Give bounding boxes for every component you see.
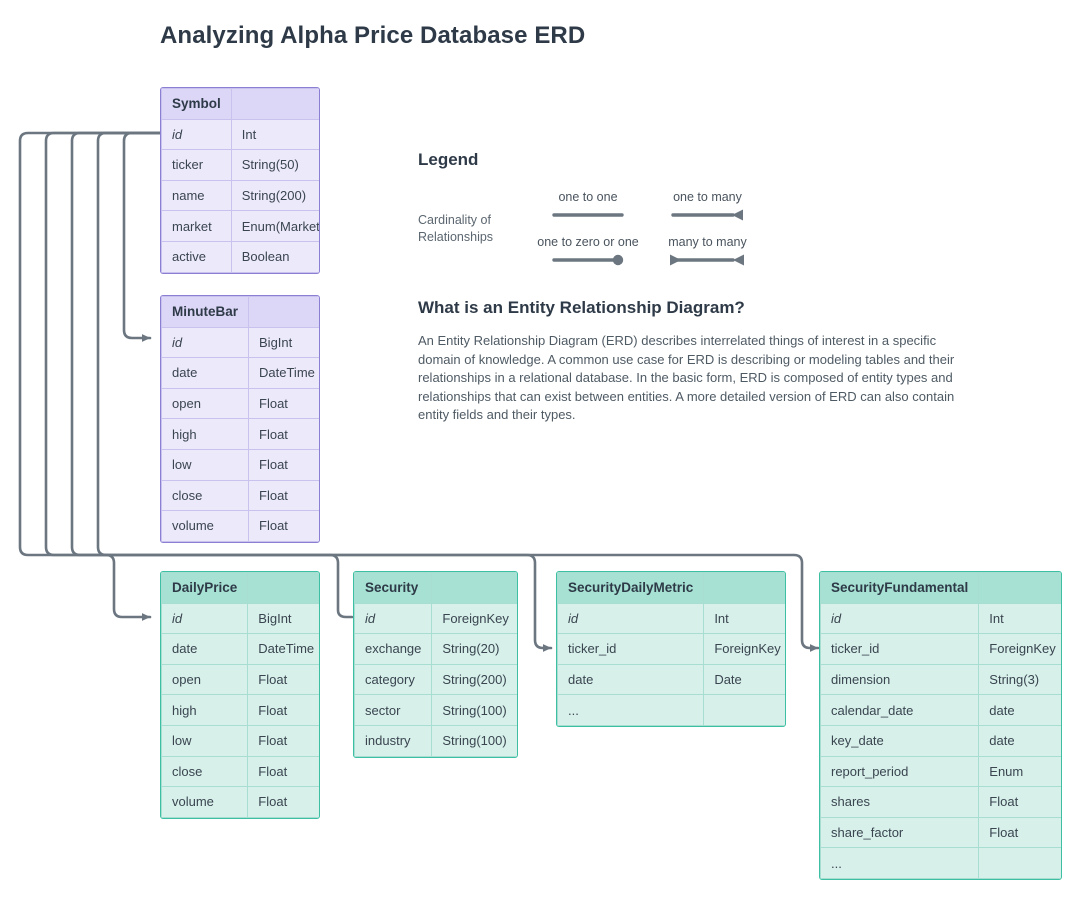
table-row: ...: [558, 695, 787, 726]
legend-item-one-to-zero-or-one: one to zero or one: [533, 235, 643, 272]
table-row: industryString(100): [355, 725, 519, 756]
field-name: volume: [162, 511, 249, 542]
field-type: Float: [248, 787, 320, 818]
table-row: openFloat: [162, 388, 321, 419]
field-name: close: [162, 480, 249, 511]
field-name: date: [162, 358, 249, 389]
table-row: highFloat: [162, 419, 321, 450]
table-row: lowFloat: [162, 725, 321, 756]
legend-label: one to many: [655, 190, 760, 204]
field-type: ForeignKey: [704, 634, 786, 665]
field-name: shares: [821, 787, 979, 818]
table-row: nameString(200): [162, 180, 321, 211]
entity-header-row: Symbol: [162, 89, 321, 120]
table-row: tickerString(50): [162, 150, 321, 181]
table-row: share_factorFloat: [821, 817, 1063, 848]
field-name: high: [162, 419, 249, 450]
field-name: id: [162, 603, 248, 634]
table-row: dateDate: [558, 664, 787, 695]
field-type: date: [979, 725, 1062, 756]
table-row: closeFloat: [162, 480, 321, 511]
field-type: Date: [704, 664, 786, 695]
connector-symbol-dailyprice: [98, 133, 160, 617]
field-type: String(200): [231, 180, 320, 211]
entity-header-row: SecurityDailyMetric: [558, 573, 787, 604]
field-name: name: [162, 180, 232, 211]
description-title: What is an Entity Relationship Diagram?: [418, 298, 745, 318]
field-name: industry: [355, 725, 432, 756]
field-name: calendar_date: [821, 695, 979, 726]
field-type: Enum(Market): [231, 211, 320, 242]
field-type: BigInt: [249, 327, 320, 358]
entity-header-spacer: [248, 573, 320, 604]
table-row: categoryString(200): [355, 664, 519, 695]
legend-label: many to many: [655, 235, 760, 249]
field-type: Boolean: [231, 241, 320, 272]
legend-line-many-to-many: [655, 253, 760, 267]
entity-header-row: DailyPrice: [162, 573, 321, 604]
field-name: id: [355, 603, 432, 634]
field-name: exchange: [355, 634, 432, 665]
entity-name: Symbol: [162, 89, 232, 120]
field-type: String(20): [432, 634, 518, 665]
field-name: share_factor: [821, 817, 979, 848]
field-type: Float: [249, 511, 320, 542]
field-type: Float: [979, 817, 1062, 848]
entity-header-spacer: [432, 573, 518, 604]
field-type: Float: [248, 695, 320, 726]
field-name: low: [162, 449, 249, 480]
field-type: Int: [704, 603, 786, 634]
table-row: idInt: [162, 119, 321, 150]
table-row: report_periodEnum: [821, 756, 1063, 787]
table-row: sectorString(100): [355, 695, 519, 726]
table-row: ticker_idForeignKey: [821, 634, 1063, 665]
table-row: idForeignKey: [355, 603, 519, 634]
field-name: close: [162, 756, 248, 787]
entity-name: SecurityDailyMetric: [558, 573, 704, 604]
table-row: sharesFloat: [821, 787, 1063, 818]
field-type: DateTime: [248, 634, 320, 665]
table-row: dateDateTime: [162, 634, 321, 665]
entity-name: Security: [355, 573, 432, 604]
field-name: open: [162, 388, 249, 419]
field-name: active: [162, 241, 232, 272]
table-row: ...: [821, 848, 1063, 879]
table-row: marketEnum(Market): [162, 211, 321, 242]
field-name: ticker: [162, 150, 232, 181]
erd-canvas: Analyzing Alpha Price Database ERD Symbo…: [0, 0, 1080, 897]
field-type: Float: [249, 419, 320, 450]
legend-label: one to one: [533, 190, 643, 204]
table-row: key_datedate: [821, 725, 1063, 756]
field-type: [704, 695, 786, 726]
description-body: An Entity Relationship Diagram (ERD) des…: [418, 332, 974, 425]
legend-item-one-to-many: one to many: [655, 190, 760, 226]
legend-line-one-to-zero-or-one: [533, 253, 643, 267]
entity-securitydailymetric[interactable]: SecurityDailyMetric idInt ticker_idForei…: [556, 571, 786, 727]
table-row: idInt: [821, 603, 1063, 634]
table-row: dateDateTime: [162, 358, 321, 389]
legend-item-many-to-many: many to many: [655, 235, 760, 272]
field-type: date: [979, 695, 1062, 726]
table-row: volumeFloat: [162, 511, 321, 542]
field-type: Int: [231, 119, 320, 150]
entity-header-spacer: [249, 297, 320, 328]
entity-header-row: SecurityFundamental: [821, 573, 1063, 604]
entity-symbol[interactable]: Symbol idInt tickerString(50) nameString…: [160, 87, 320, 274]
field-name: key_date: [821, 725, 979, 756]
field-name: date: [162, 634, 248, 665]
field-name: open: [162, 664, 248, 695]
entity-header-spacer: [979, 573, 1062, 604]
field-type: String(100): [432, 725, 518, 756]
field-type: Float: [249, 480, 320, 511]
field-type: Float: [249, 388, 320, 419]
field-name: id: [162, 119, 232, 150]
field-type: Enum: [979, 756, 1062, 787]
table-row: openFloat: [162, 664, 321, 695]
legend-title: Legend: [418, 150, 478, 170]
table-row: activeBoolean: [162, 241, 321, 272]
entity-header-spacer: [704, 573, 786, 604]
table-row: lowFloat: [162, 449, 321, 480]
field-name: market: [162, 211, 232, 242]
field-type: [979, 848, 1062, 879]
legend-line-one-to-one: [533, 209, 643, 221]
field-name: category: [355, 664, 432, 695]
field-type: ForeignKey: [979, 634, 1062, 665]
entity-header-spacer: [231, 89, 320, 120]
field-type: ForeignKey: [432, 603, 518, 634]
connector-symbol-minutebar: [124, 133, 160, 338]
field-type: Float: [249, 449, 320, 480]
entity-minutebar[interactable]: MinuteBar idBigInt dateDateTime openFloa…: [160, 295, 320, 543]
legend-line-one-to-many: [655, 209, 760, 221]
table-row: highFloat: [162, 695, 321, 726]
field-name: id: [821, 603, 979, 634]
entity-securityfundamental[interactable]: SecurityFundamental idInt ticker_idForei…: [819, 571, 1062, 880]
field-name: high: [162, 695, 248, 726]
entity-name: DailyPrice: [162, 573, 248, 604]
field-name: volume: [162, 787, 248, 818]
field-type: Int: [979, 603, 1062, 634]
table-row: idInt: [558, 603, 787, 634]
field-type: Float: [248, 725, 320, 756]
field-name: sector: [355, 695, 432, 726]
field-type: Float: [248, 756, 320, 787]
field-name: low: [162, 725, 248, 756]
entity-name: MinuteBar: [162, 297, 249, 328]
legend-item-one-to-one: one to one: [533, 190, 643, 226]
field-type: String(100): [432, 695, 518, 726]
field-name: report_period: [821, 756, 979, 787]
entity-name: SecurityFundamental: [821, 573, 979, 604]
field-name: id: [558, 603, 704, 634]
legend-caption: Cardinality of Relationships: [418, 212, 513, 246]
field-name: ...: [821, 848, 979, 879]
entity-header-row: MinuteBar: [162, 297, 321, 328]
field-type: String(200): [432, 664, 518, 695]
field-type: String(50): [231, 150, 320, 181]
table-row: calendar_datedate: [821, 695, 1063, 726]
entity-header-row: Security: [355, 573, 519, 604]
field-name: ...: [558, 695, 704, 726]
entity-dailyprice[interactable]: DailyPrice idBigInt dateDateTime openFlo…: [160, 571, 320, 819]
field-type: Float: [248, 664, 320, 695]
table-row: closeFloat: [162, 756, 321, 787]
table-row: exchangeString(20): [355, 634, 519, 665]
field-name: date: [558, 664, 704, 695]
field-type: BigInt: [248, 603, 320, 634]
field-name: ticker_id: [821, 634, 979, 665]
table-row: ticker_idForeignKey: [558, 634, 787, 665]
field-name: dimension: [821, 664, 979, 695]
field-name: ticker_id: [558, 634, 704, 665]
legend-label: one to zero or one: [533, 235, 643, 249]
table-row: idBigInt: [162, 327, 321, 358]
table-row: volumeFloat: [162, 787, 321, 818]
field-type: String(3): [979, 664, 1062, 695]
entity-security[interactable]: Security idForeignKey exchangeString(20)…: [353, 571, 518, 758]
table-row: idBigInt: [162, 603, 321, 634]
field-type: DateTime: [249, 358, 320, 389]
field-name: id: [162, 327, 249, 358]
table-row: dimensionString(3): [821, 664, 1063, 695]
field-type: Float: [979, 787, 1062, 818]
